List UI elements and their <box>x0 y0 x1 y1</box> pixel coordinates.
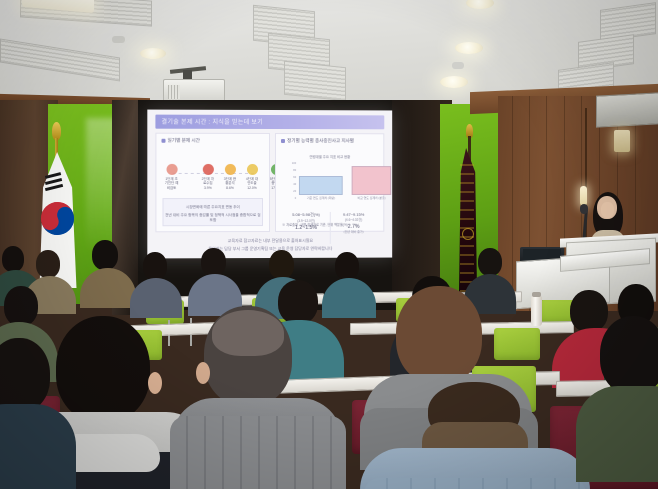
puffer-vest <box>170 416 346 489</box>
chart-bar-2 <box>352 166 392 195</box>
timeline-node-1-icon <box>166 164 177 175</box>
slide-title-bar: 결기술 본제 시간 : 지식을 믿는데 보기 <box>155 115 384 130</box>
flag-emblem <box>462 228 474 240</box>
timeline-node-2-label: 2단계 자료수집 3.9% <box>201 176 215 190</box>
chart-bar-1-label: 기준 연도 집계치 (파랑) <box>299 196 343 200</box>
chart-bar-group-1: 기준 연도 집계치 (파랑) <box>299 176 343 200</box>
air-conditioner-unit <box>596 92 658 127</box>
wall-lamp-icon <box>614 130 630 152</box>
bar-chart: 연령대별 주요 지표 비교 현황 100 80 60 40 20 0 기준 연도… <box>282 154 377 210</box>
slide-note-box: 시장변화에 따른 주요지표 변동 추이 전년 대비 주요 항목의 증감률 및 정… <box>162 198 263 226</box>
timeline-node-4-icon <box>246 164 257 175</box>
chart-bar-1 <box>299 176 343 195</box>
wall-accent-light <box>580 186 587 206</box>
timeline-node-2-icon <box>202 164 213 175</box>
timeline-node-4-label: 4단계 대안도출 12.0% <box>245 176 259 190</box>
ceiling-spotlight <box>112 36 125 43</box>
slide-left-card: 일기별 분제 시간 1단계 초기진단 예비검토 2단계 자료수집 3.9% 3단… <box>155 133 270 233</box>
y-tick: 0 <box>295 197 296 200</box>
y-tick: 60 <box>293 176 296 179</box>
timeline-node-3-icon <box>224 164 235 175</box>
slide-body: 일기별 분제 시간 1단계 초기진단 예비검토 2단계 자료수집 3.9% 3단… <box>155 133 384 233</box>
y-tick: 80 <box>293 169 296 172</box>
lecture-hall-photo: 결기술 본제 시간 : 지식을 믿는데 보기 일기별 분제 시간 1단계 초기진… <box>0 0 658 489</box>
ceiling-vent <box>284 61 346 102</box>
timeline-node-3-label: 3단계 현황분석 8.6% <box>223 176 237 190</box>
presenter-face <box>601 202 614 218</box>
water-bottle-cap <box>532 292 541 297</box>
denim-jacket <box>364 478 586 489</box>
slide-title: 결기술 본제 시간 : 지식을 믿는데 보기 <box>161 117 263 126</box>
ceiling-light <box>140 48 166 59</box>
balding-scalp <box>212 310 284 356</box>
chart-bar-group-2: 비교 연도 집계치 (분홍) <box>352 166 392 200</box>
slide-footer-line-2: 문의처는 담당 부서 그룹 운영기획팀 또는 교육 운영 담당자로 연락바랍니다 <box>147 246 392 253</box>
y-tick: 40 <box>293 183 296 186</box>
note-line-2: 전년 대비 주요 항목의 증감률 및 정책적 시사점을 종합적으로 검토함 <box>163 213 262 223</box>
slide-footer-line-1: 교육자료 참고자료는 내부 전달용으로 출처표시필요 <box>147 238 392 245</box>
ceiling-light <box>455 42 483 54</box>
left-card-heading: 일기별 분제 시간 <box>161 138 199 144</box>
process-timeline: 1단계 초기진단 예비검토 2단계 자료수집 3.9% 3단계 현황분석 8.6… <box>160 164 265 198</box>
annotation-right-line4: (전년 대비 증가) <box>330 229 377 233</box>
chart-y-axis: 100 80 60 40 20 0 <box>288 162 296 200</box>
microphone-icon <box>580 204 588 214</box>
timeline-node-1-label: 1단계 초기진단 예비검토 <box>165 176 179 190</box>
y-tick: 100 <box>292 162 296 165</box>
chart-caption: 연령대별 주요 지표 비교 현황 <box>282 154 377 159</box>
ceiling-light <box>440 76 468 88</box>
ceiling-vent <box>0 38 120 81</box>
chart-bar-2-label: 비교 연도 집계치 (분홍) <box>352 196 392 200</box>
ceiling-light <box>466 0 494 9</box>
slide-right-card: 정기별 능력별 종사중진사고 지사별 연령대별 주요 지표 비교 현황 100 … <box>275 133 384 232</box>
chart-footnote: ※ 자료출처 : 내부 집계자료 기준, 단위 백분율(%) <box>282 222 348 227</box>
ceiling-spotlight <box>452 62 464 69</box>
water-bottle <box>531 296 542 326</box>
y-tick: 20 <box>293 190 296 193</box>
projection-screen: 결기술 본제 시간 : 지식을 믿는데 보기 일기별 분제 시간 1단계 초기진… <box>147 110 392 259</box>
chair <box>494 328 540 360</box>
right-card-heading: 정기별 능력별 종사중진사고 지사별 <box>281 138 354 144</box>
note-line-1: 시장변화에 따른 주요지표 변동 추이 <box>163 205 262 210</box>
